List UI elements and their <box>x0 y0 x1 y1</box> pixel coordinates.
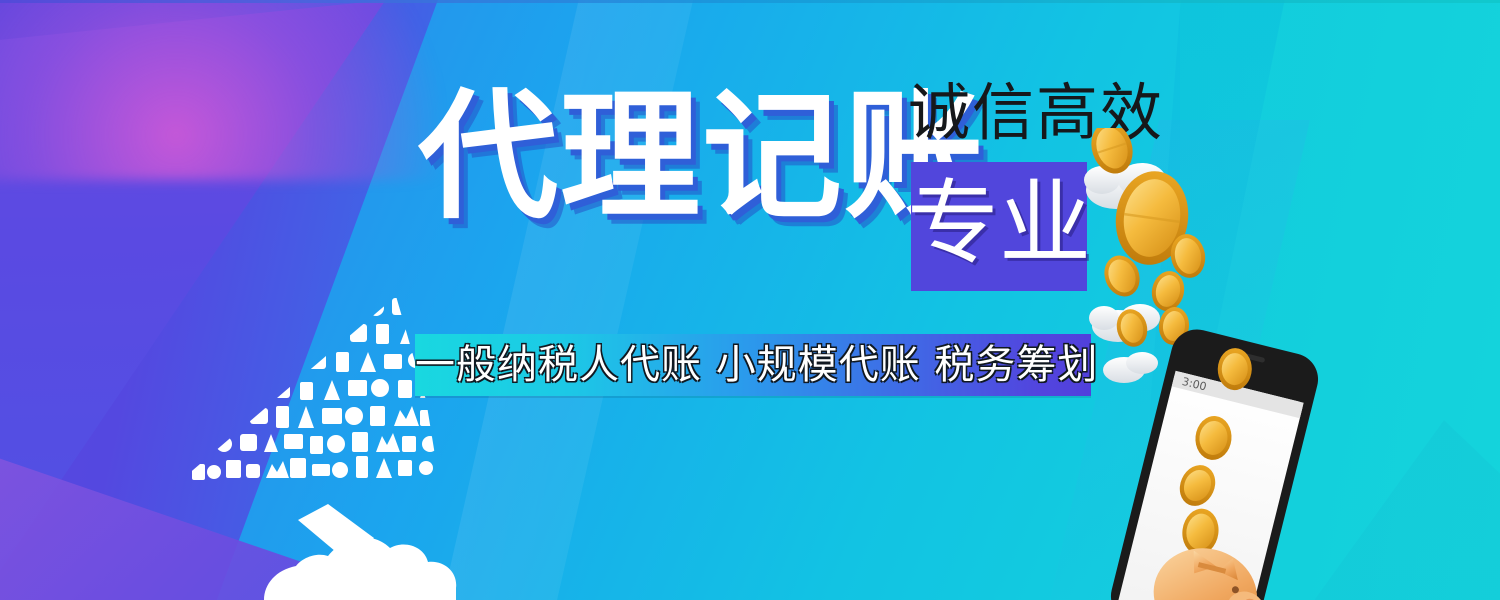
background-magenta-glow <box>0 0 440 180</box>
background-top-edge-line <box>0 0 1500 3</box>
status-badge: 专业 <box>911 162 1087 291</box>
services-bar: 一般纳税人代账 小规模代账 税务筹划 <box>415 334 1091 396</box>
services-list: 一般纳税人代账 小规模代账 税务筹划 <box>415 345 1091 385</box>
promo-banner: 代理记账 诚信高效 专业 一般纳税人代账 小规模代账 税务筹划 <box>0 0 1500 600</box>
badge-label: 专业 <box>907 178 1091 270</box>
page-title: 代理记账 <box>418 88 986 228</box>
smartphone-piggybank-icon: 3:00 <box>1082 128 1412 600</box>
